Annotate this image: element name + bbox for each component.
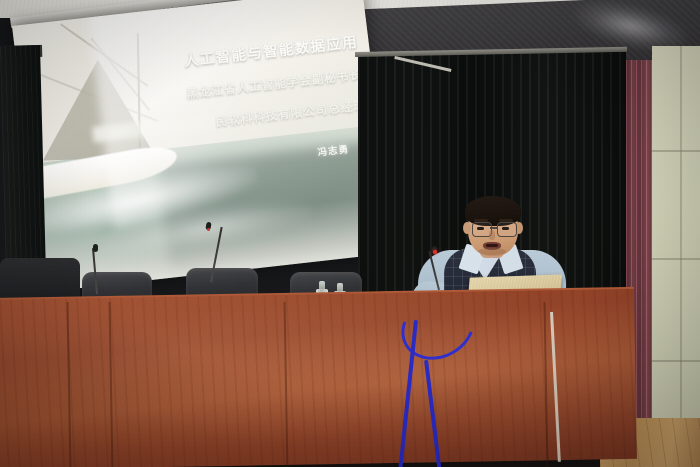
podium-wood-grain [0, 289, 637, 467]
presenter-nose [489, 230, 495, 240]
wall-panel-seam [652, 360, 700, 362]
wooden-podium [0, 289, 637, 467]
presenter-chin-shadow [478, 248, 506, 255]
presentation-photo: 人工智能与智能数据应用 黑龙江省人工智能学会副秘书长 民软科科技有限公司总经理 … [0, 0, 700, 467]
projection-screen: 人工智能与智能数据应用 黑龙江省人工智能学会副秘书长 民软科科技有限公司总经理 … [12, 0, 394, 292]
bottle-cap [337, 283, 343, 291]
bottle-cap [319, 281, 325, 289]
projection-screen-surface: 人工智能与智能数据应用 黑龙江省人工智能学会副秘书长 民软科科技有限公司总经理 … [12, 0, 394, 292]
wall-panel-seam [652, 150, 700, 152]
microphone-indicator-light [433, 250, 437, 254]
presenter-eye [477, 227, 484, 230]
wall-panel-seam [652, 258, 700, 260]
eyeglasses-bridge [490, 227, 497, 229]
right-wall-panels [652, 46, 700, 446]
presenter-eye [502, 227, 509, 230]
microphone-head [93, 244, 98, 252]
presenter-ear [463, 222, 471, 234]
presenter-mouth-open [486, 244, 498, 247]
wall-panel-seam-vertical [680, 46, 682, 446]
microphone-indicator-light [207, 228, 210, 231]
